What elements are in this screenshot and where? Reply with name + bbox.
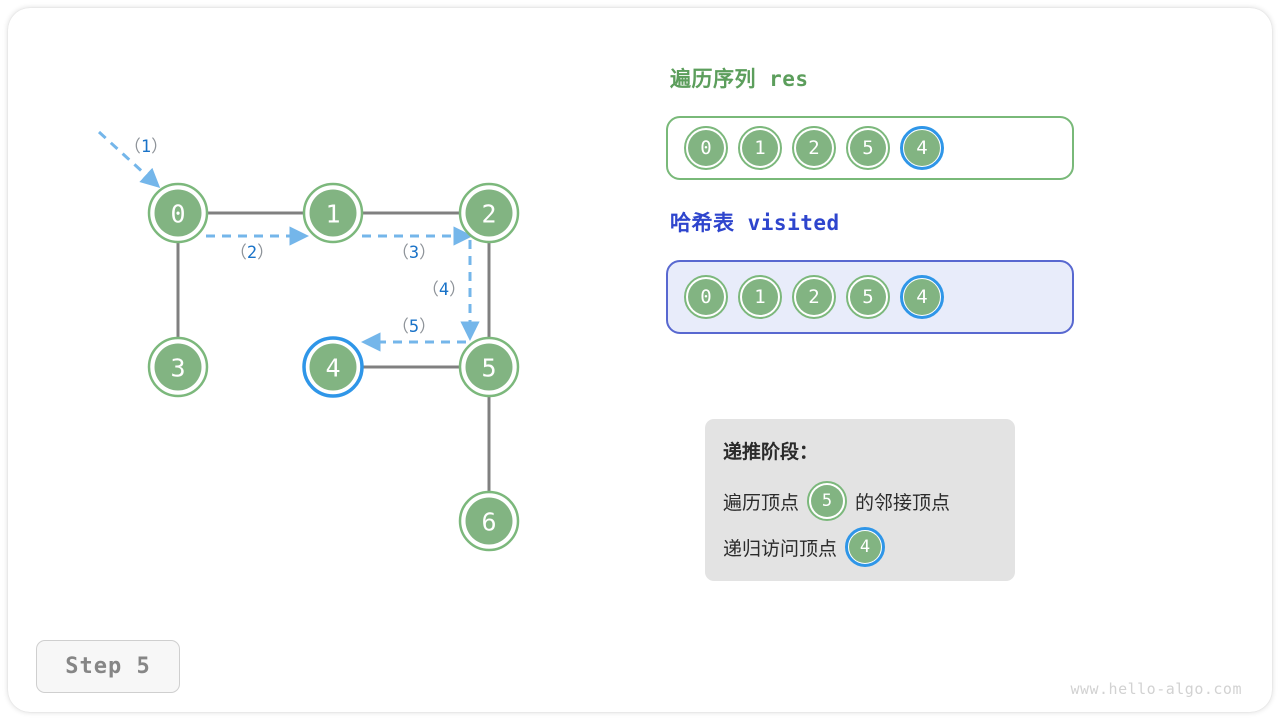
node-label: 4	[325, 354, 340, 383]
traversal-arrow-label: （4）	[422, 280, 466, 300]
visited-item-chip: 1	[738, 275, 782, 319]
phase-heading: 递推阶段：	[723, 437, 1015, 464]
chip-label: 4	[900, 275, 944, 319]
res-item-chip: 5	[846, 126, 890, 170]
graph-node: 5	[460, 338, 518, 396]
graph-traversal-arrow-layer	[99, 132, 470, 342]
watermark: www.hello-algo.com	[1070, 680, 1242, 698]
res-item-chip: 4	[900, 126, 944, 170]
graph-node: 1	[304, 184, 362, 242]
visited-item-chip: 4	[900, 275, 944, 319]
res-item-chip: 1	[738, 126, 782, 170]
node-label: 3	[170, 354, 185, 383]
step-badge: Step 5	[36, 640, 180, 693]
phase-line-1-node-chip: 5	[807, 481, 847, 521]
node-label: 0	[170, 200, 185, 229]
chip-label: 0	[684, 275, 728, 319]
phase-line-2-node-chip: 4	[845, 527, 885, 567]
phase-info-panel: 递推阶段： 遍历顶点 5 的邻接顶点 递归访问顶点 4	[705, 419, 1015, 581]
graph-node: 3	[149, 338, 207, 396]
graph-node: 4	[304, 338, 362, 396]
chip-label: 2	[792, 275, 836, 319]
phase-line-1: 遍历顶点 5 的邻接顶点	[723, 478, 1015, 524]
node-label: 6	[481, 508, 496, 537]
graph-node: 2	[460, 184, 518, 242]
res-item-chip: 0	[684, 126, 728, 170]
graph-node: 6	[460, 492, 518, 550]
chip-label: 4	[845, 527, 885, 567]
visited-item-chip: 2	[792, 275, 836, 319]
graph-node-layer: 0123456	[149, 184, 518, 550]
screenshot-root: 0123456 （1）（2）（3）（4）（5） 遍历序列 res 01254 哈…	[0, 0, 1280, 720]
phase-line-1-prefix: 遍历顶点	[723, 488, 799, 515]
node-label: 1	[325, 200, 340, 229]
traversal-arrow-label: （5）	[392, 317, 436, 337]
chip-label: 0	[684, 126, 728, 170]
graph-node: 0	[149, 184, 207, 242]
phase-line-1-suffix: 的邻接顶点	[855, 488, 950, 515]
graph-diagram: 0123456 （1）（2）（3）（4）（5）	[0, 0, 1280, 720]
res-list-box: 01254	[666, 116, 1074, 180]
res-title: 遍历序列 res	[670, 63, 809, 93]
res-item-chip: 2	[792, 126, 836, 170]
visited-item-chip: 5	[846, 275, 890, 319]
visited-item-chip: 0	[684, 275, 728, 319]
node-label: 2	[481, 200, 496, 229]
chip-label: 2	[792, 126, 836, 170]
visited-title: 哈希表 visited	[670, 207, 840, 237]
node-label: 5	[481, 354, 496, 383]
phase-line-2-prefix: 递归访问顶点	[723, 534, 837, 561]
traversal-arrow-label: （1）	[124, 137, 168, 157]
traversal-arrow-label: （3）	[392, 243, 436, 263]
chip-label: 5	[846, 275, 890, 319]
traversal-arrow-label: （2）	[230, 243, 274, 263]
visited-list-box: 01254	[666, 260, 1074, 334]
phase-line-2: 递归访问顶点 4	[723, 524, 1015, 570]
chip-label: 1	[738, 275, 782, 319]
chip-label: 4	[900, 126, 944, 170]
chip-label: 1	[738, 126, 782, 170]
chip-label: 5	[807, 481, 847, 521]
chip-label: 5	[846, 126, 890, 170]
